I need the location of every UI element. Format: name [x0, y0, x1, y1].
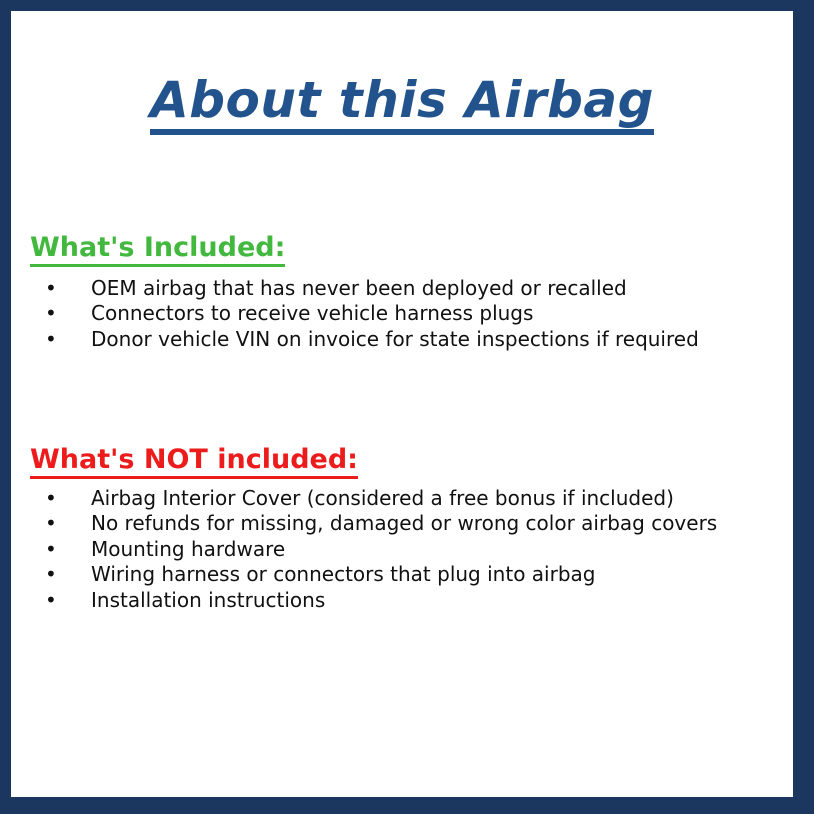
- list-item-label: Airbag Interior Cover (considered a free…: [91, 486, 674, 510]
- section-heading-included-text: What's Included:: [30, 233, 285, 267]
- bullet-icon: •: [45, 537, 57, 563]
- page-border-top: [0, 0, 814, 11]
- list-item-label: OEM airbag that has never been deployed …: [91, 276, 627, 300]
- page-title: About this Airbag: [11, 74, 793, 135]
- list-item: • Installation instructions: [30, 588, 780, 614]
- page-content: About this Airbag What's Included: • OEM…: [11, 11, 793, 797]
- section-heading-excluded: What's NOT included:: [30, 445, 780, 479]
- bullet-icon: •: [45, 276, 57, 302]
- section-whats-not-included: What's NOT included: • Airbag Interior C…: [30, 445, 780, 613]
- list-item: • Mounting hardware: [30, 537, 780, 563]
- list-item-label: Mounting hardware: [91, 537, 285, 561]
- list-item-label: Wiring harness or connectors that plug i…: [91, 562, 595, 586]
- bullet-icon: •: [45, 511, 57, 537]
- included-list: • OEM airbag that has never been deploye…: [30, 276, 780, 353]
- list-item: • Connectors to receive vehicle harness …: [30, 301, 780, 327]
- page-title-text: About this Airbag: [150, 74, 654, 135]
- page-border-bottom: [0, 797, 814, 814]
- list-item: • Airbag Interior Cover (considered a fr…: [30, 486, 780, 512]
- excluded-list: • Airbag Interior Cover (considered a fr…: [30, 486, 780, 614]
- list-item-label: Connectors to receive vehicle harness pl…: [91, 301, 533, 325]
- page-border-right: [793, 0, 814, 814]
- bullet-icon: •: [45, 588, 57, 614]
- page-border-left: [0, 0, 11, 802]
- bullet-icon: •: [45, 327, 57, 353]
- section-whats-included: What's Included: • OEM airbag that has n…: [30, 233, 780, 352]
- bullet-icon: •: [45, 562, 57, 588]
- list-item: • No refunds for missing, damaged or wro…: [30, 511, 780, 537]
- list-item-label: Installation instructions: [91, 588, 325, 612]
- list-item: • Donor vehicle VIN on invoice for state…: [30, 327, 780, 353]
- list-item-label: No refunds for missing, damaged or wrong…: [91, 511, 717, 535]
- list-item: • OEM airbag that has never been deploye…: [30, 276, 780, 302]
- list-item: • Wiring harness or connectors that plug…: [30, 562, 780, 588]
- section-heading-included: What's Included:: [30, 233, 780, 267]
- list-item-label: Donor vehicle VIN on invoice for state i…: [91, 327, 699, 351]
- bullet-icon: •: [45, 486, 57, 512]
- airbag-info-page: About this Airbag What's Included: • OEM…: [0, 0, 814, 814]
- bullet-icon: •: [45, 301, 57, 327]
- section-heading-excluded-text: What's NOT included:: [30, 445, 358, 479]
